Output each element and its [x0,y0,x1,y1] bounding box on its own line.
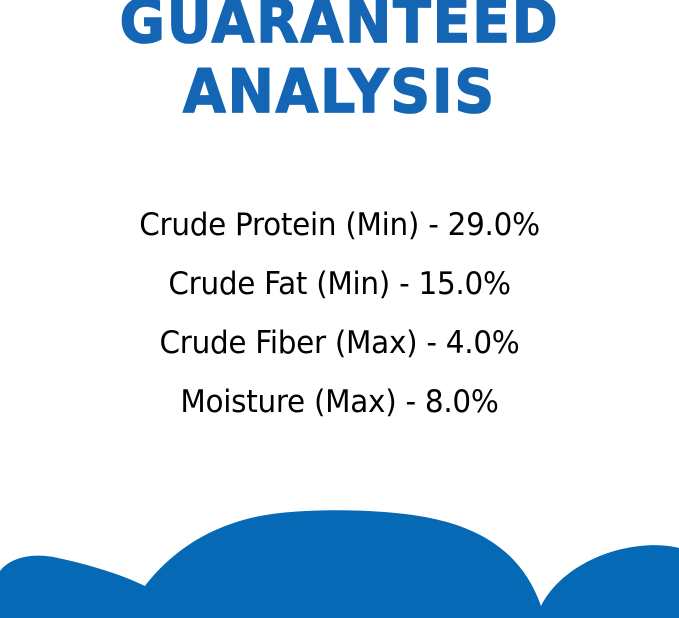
list-item: Crude Fat (Min) - 15.0% [17,255,662,314]
wave-shape [0,510,679,618]
title-line-guaranteed: GUARANTEED [27,0,652,52]
title-line-analysis: ANALYSIS [27,62,652,122]
scalloped-wave-decoration [0,488,679,618]
list-item: Crude Fiber (Max) - 4.0% [17,314,662,373]
guaranteed-analysis-panel: GUARANTEED ANALYSIS Crude Protein (Min) … [0,0,679,618]
analysis-list: Crude Protein (Min) - 29.0% Crude Fat (M… [0,196,679,432]
list-item: Crude Protein (Min) - 29.0% [17,196,662,255]
page-title: GUARANTEED ANALYSIS [0,0,679,122]
list-item: Moisture (Max) - 8.0% [17,373,662,432]
